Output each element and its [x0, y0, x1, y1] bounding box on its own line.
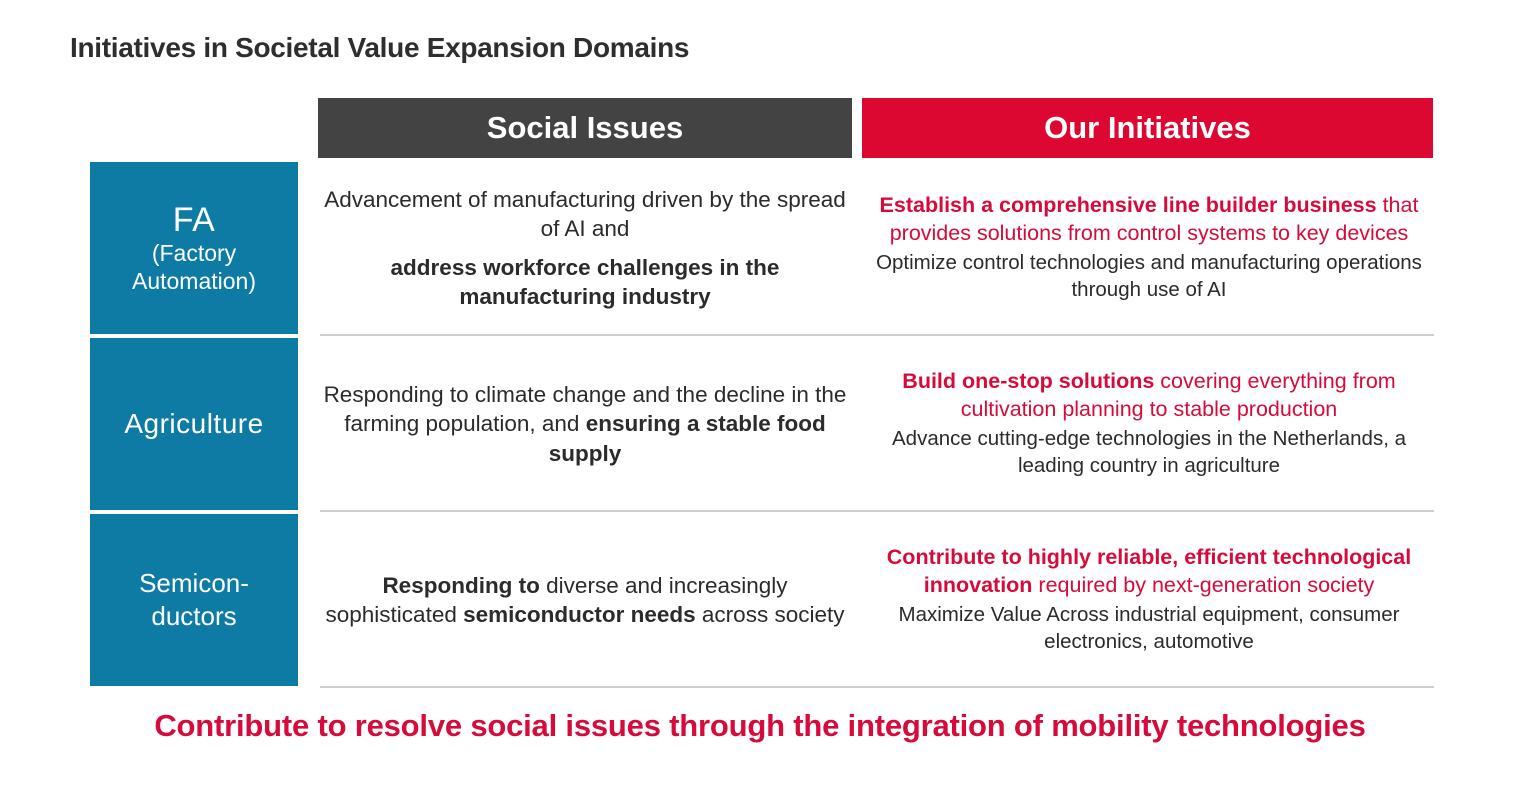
- row-divider: [320, 686, 1434, 688]
- initiative-support-semiconductors: Maximize Value Across industrial equipme…: [866, 602, 1432, 655]
- column-header-our-initiatives-label: Our Initiatives: [1044, 110, 1251, 146]
- initiative-lead-semiconductors: Contribute to highly reliable, efficient…: [866, 544, 1432, 599]
- column-header-social-issues: Social Issues: [318, 98, 852, 158]
- category-label-main-line2: ductors: [151, 600, 236, 633]
- initiative-lead-fa: Establish a comprehensive line builder b…: [866, 192, 1432, 247]
- page-title: Initiatives in Societal Value Expansion …: [70, 32, 689, 64]
- column-header-our-initiatives: Our Initiatives: [862, 98, 1433, 158]
- social-issues-text-regular: Advancement of manufacturing driven by t…: [320, 185, 850, 244]
- initiative-lead-bold: Build one-stop solutions: [902, 369, 1154, 393]
- category-label-main: Agriculture: [124, 408, 263, 439]
- category-label-sub-line2: Automation): [132, 269, 256, 295]
- our-initiatives-cell-agriculture: Build one-stop solutions covering everyt…: [866, 338, 1432, 510]
- category-block-fa: FA (Factory Automation): [90, 162, 298, 334]
- social-issues-text-bold: ensuring a stable food supply: [549, 411, 826, 465]
- bottom-banner: Contribute to resolve social issues thro…: [0, 708, 1520, 744]
- row-divider: [320, 510, 1434, 512]
- initiative-support-agriculture: Advance cutting-edge technologies in the…: [866, 426, 1432, 479]
- social-issues-text-agriculture: Responding to climate change and the dec…: [320, 380, 850, 468]
- social-issues-cell-semiconductors: Responding to diverse and increasingly s…: [320, 514, 850, 686]
- our-initiatives-cell-fa: Establish a comprehensive line builder b…: [866, 162, 1432, 334]
- category-block-agriculture: Agriculture: [90, 338, 298, 510]
- initiative-lead-regular: required by next-generation society: [1032, 573, 1374, 597]
- social-issues-text-bold: address workforce challenges in the manu…: [391, 255, 780, 309]
- category-label-sub-line1: (Factory: [152, 241, 236, 267]
- social-issues-text-bold-1: Responding to: [382, 573, 539, 598]
- social-issues-text-semiconductors: Responding to diverse and increasingly s…: [320, 571, 850, 630]
- social-issues-cell-agriculture: Responding to climate change and the dec…: [320, 338, 850, 510]
- our-initiatives-cell-semiconductors: Contribute to highly reliable, efficient…: [866, 514, 1432, 686]
- table-row: Semicon- ductors Responding to diverse a…: [0, 514, 1520, 688]
- initiative-lead-agriculture: Build one-stop solutions covering everyt…: [866, 368, 1432, 423]
- slide-canvas: Initiatives in Societal Value Expansion …: [0, 0, 1520, 800]
- initiative-lead-bold: Establish a comprehensive line builder b…: [880, 193, 1377, 217]
- category-block-semiconductors: Semicon- ductors: [90, 514, 298, 686]
- social-issues-text-bold-2: semiconductor needs: [463, 602, 696, 627]
- social-issues-cell-fa: Advancement of manufacturing driven by t…: [320, 162, 850, 334]
- column-header-social-issues-label: Social Issues: [487, 110, 683, 146]
- table-row: FA (Factory Automation) Advancement of m…: [0, 162, 1520, 336]
- initiative-support-fa: Optimize control technologies and manufa…: [866, 250, 1432, 303]
- category-label-main-line1: Semicon-: [139, 567, 249, 600]
- social-issues-text-regular-2: across society: [696, 602, 845, 627]
- category-label-main: FA: [173, 201, 216, 239]
- table-row: Agriculture Responding to climate change…: [0, 338, 1520, 512]
- row-divider: [320, 334, 1434, 336]
